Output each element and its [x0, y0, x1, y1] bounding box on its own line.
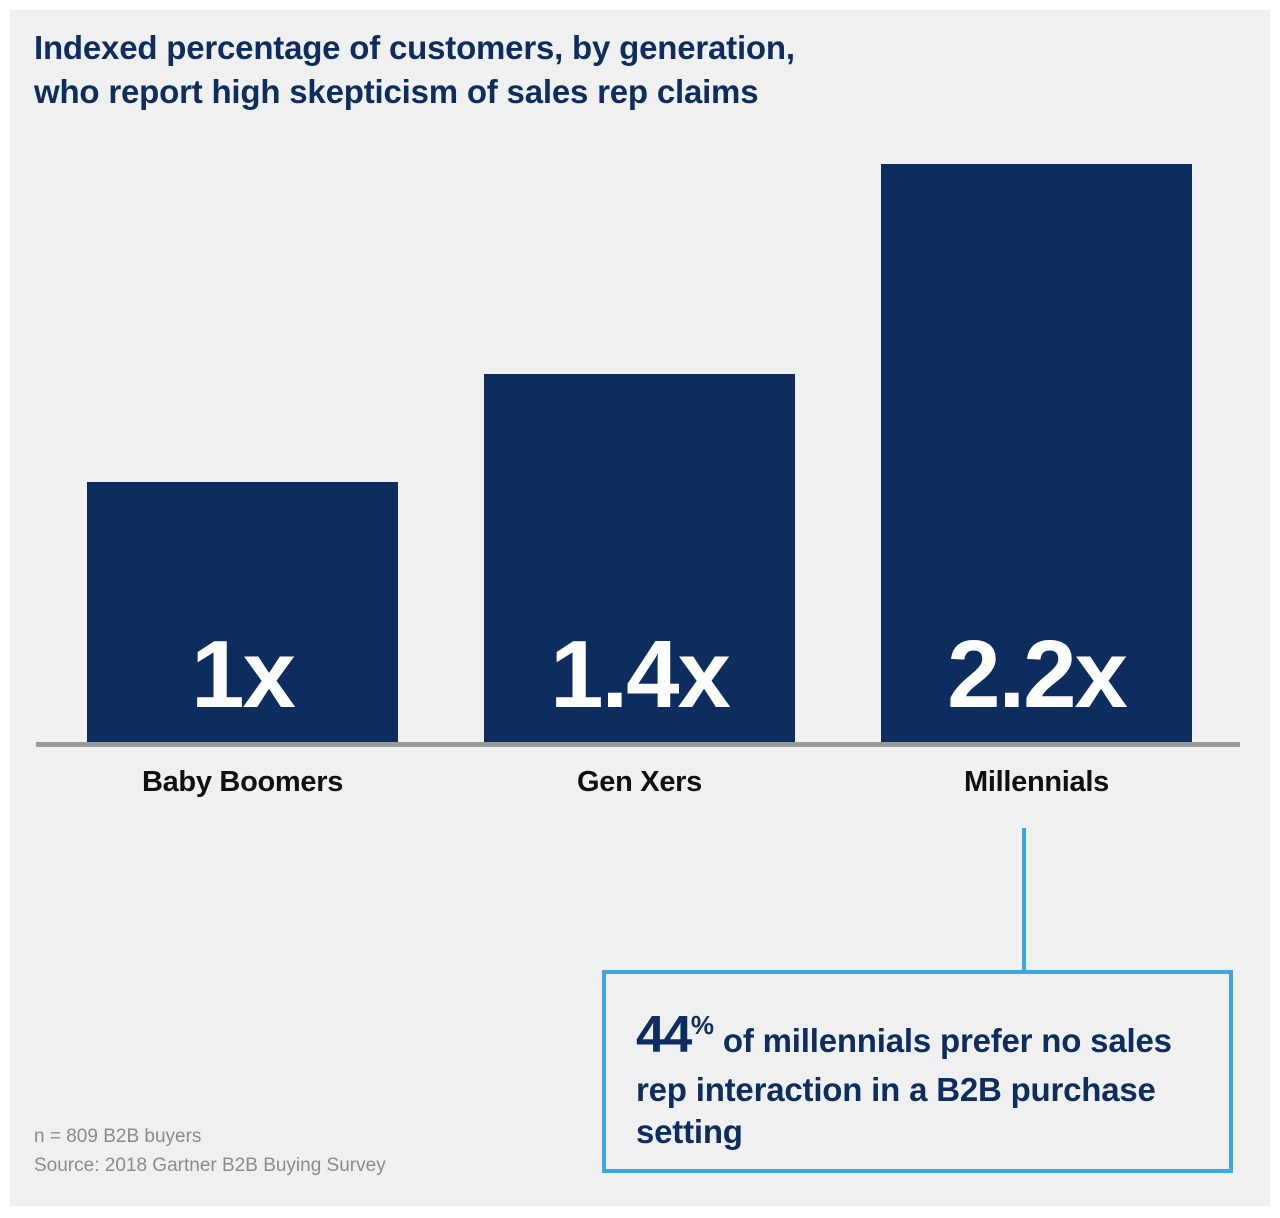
- bar-chart-plot-area: 1x 1.4x 2.2x Baby Boomers Gen Xers Mille…: [10, 10, 1270, 1206]
- footnote-sample-size: n = 809 B2B buyers: [34, 1122, 386, 1151]
- bar-gen-xers: 1.4x: [484, 374, 795, 742]
- bar-baby-boomers: 1x: [87, 482, 398, 742]
- category-label-gen-xers: Gen Xers: [484, 766, 795, 799]
- chart-figure: Indexed percentage of customers, by gene…: [10, 10, 1270, 1206]
- category-label-baby-boomers: Baby Boomers: [87, 766, 398, 799]
- bar-millennials: 2.2x: [881, 164, 1192, 742]
- bar-value-label-gen-xers: 1.4x: [484, 629, 795, 720]
- callout-text: 44% of millennials prefer no sales rep i…: [636, 1002, 1211, 1153]
- footnote-source: Source: 2018 Gartner B2B Buying Survey: [34, 1151, 386, 1180]
- x-axis-baseline: [36, 742, 1240, 747]
- category-label-millennials: Millennials: [881, 766, 1192, 799]
- chart-footnote: n = 809 B2B buyers Source: 2018 Gartner …: [34, 1122, 386, 1181]
- callout-box: 44% of millennials prefer no sales rep i…: [602, 970, 1233, 1173]
- bar-value-label-baby-boomers: 1x: [87, 629, 398, 720]
- callout-percent-sign: %: [691, 1010, 714, 1040]
- callout-number: 44: [636, 1006, 691, 1064]
- bar-value-label-millennials: 2.2x: [881, 629, 1192, 720]
- callout-connector-line: [1022, 828, 1026, 972]
- callout-body-text: of millennials prefer no sales rep inter…: [636, 1022, 1172, 1150]
